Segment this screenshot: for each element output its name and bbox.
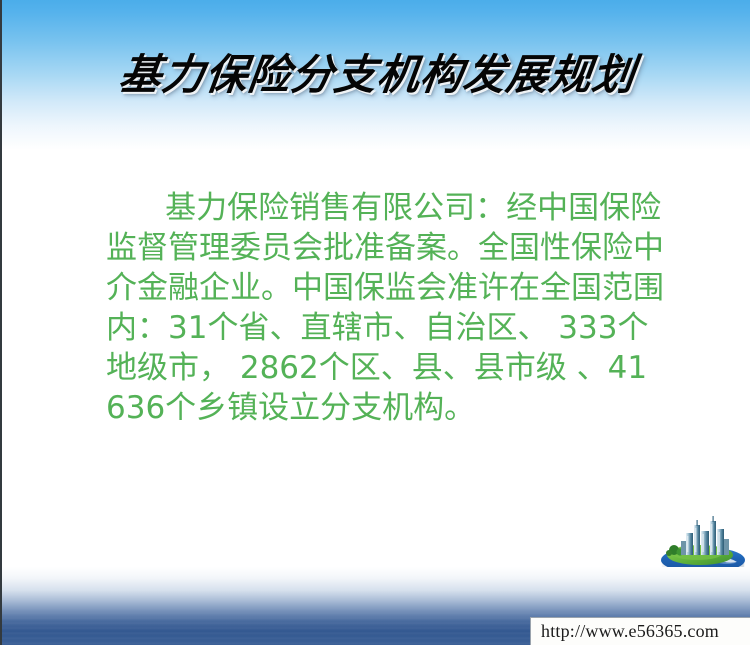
body-paragraph: 基力保险销售有限公司：经中国保险监督管理委员会批准备案。全国性保险中介金融企业。… — [106, 188, 666, 428]
watermark-url: http://www.e56365.com — [541, 621, 719, 642]
slide-body-area: 基力保险销售有限公司：经中国保险监督管理委员会批准备案。全国性保险中介金融企业。… — [106, 188, 666, 428]
presentation-slide: 基力保险分支机构发展规划 基力保险销售有限公司：经中国保险监督管理委员会批准备案… — [0, 0, 750, 645]
watermark-banner: http://www.e56365.com — [530, 617, 750, 645]
sky-gradient-background — [2, 0, 750, 150]
